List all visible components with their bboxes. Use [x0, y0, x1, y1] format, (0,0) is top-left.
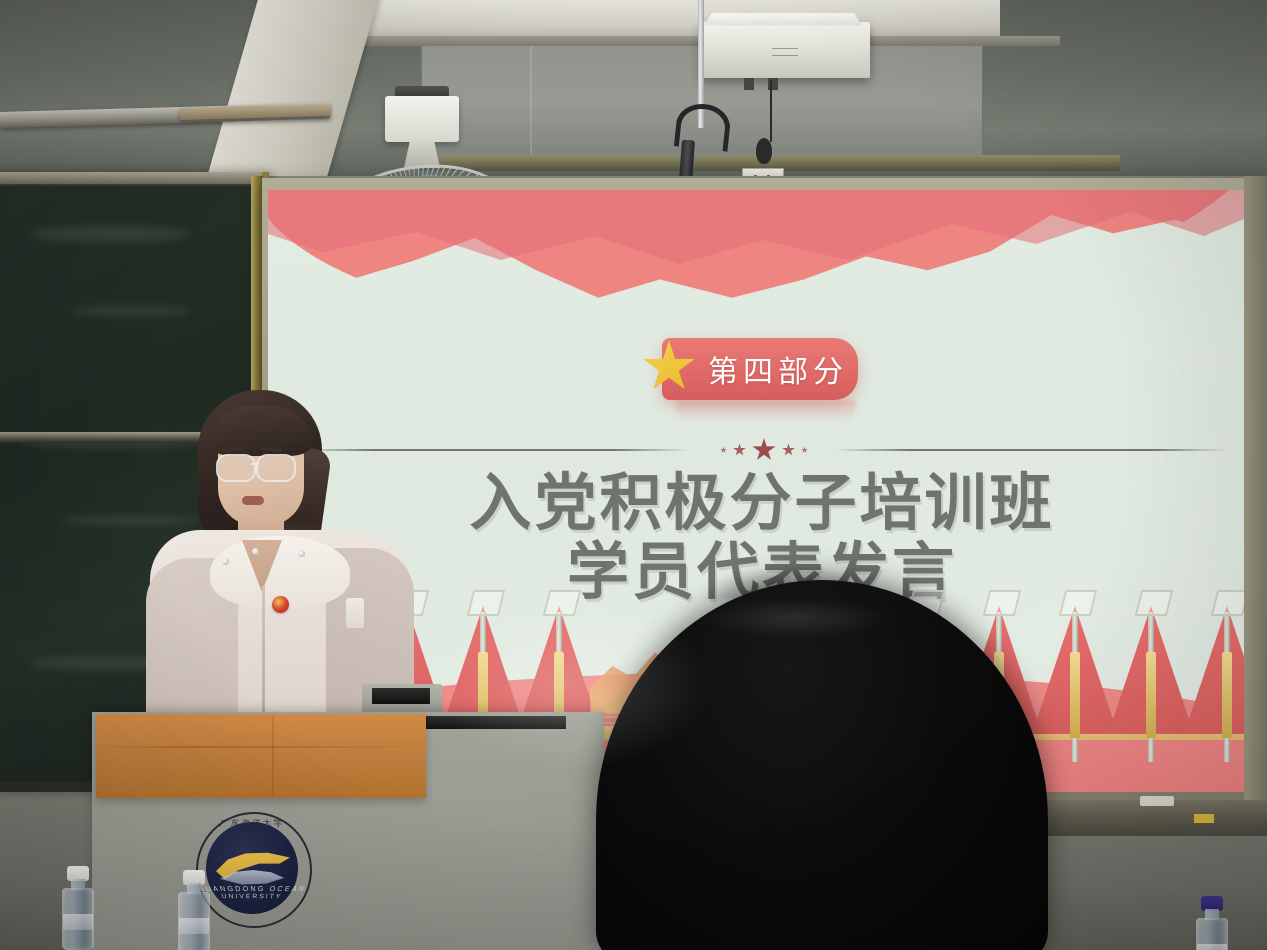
podium-device-screen [372, 688, 430, 704]
bottle-label [63, 914, 93, 930]
lectern-wood-panel [96, 714, 426, 798]
fan-mount [385, 96, 459, 142]
star-icon [782, 444, 795, 457]
water-bottle [62, 888, 94, 950]
speaker-jacket-zipper [262, 586, 265, 716]
logo-chinese-name: 广东海洋大学 [206, 817, 297, 836]
lectern-wood-seam [272, 716, 274, 796]
speaker-mouth [242, 496, 264, 505]
hood-snap-button [222, 558, 229, 565]
projector-cable [770, 80, 772, 142]
chalkboard-top-edge [0, 172, 262, 184]
water-bottle [1196, 918, 1228, 950]
whiteboard-tray-marker [1194, 814, 1214, 823]
divider-stars [694, 438, 834, 462]
ceiling-beam-shadow [300, 36, 1060, 46]
badge-label: 第四部分 [672, 347, 848, 391]
slide-flag [1032, 606, 1118, 734]
bottle-label [1197, 944, 1227, 950]
photo-scene: 第四部分 入党积极分子培训班 学员代表发言 [0, 0, 1267, 950]
star-icon [801, 447, 808, 454]
glasses-bridge [251, 463, 259, 465]
audience-hair-highlight [700, 598, 890, 638]
ceiling-speaker [756, 138, 772, 164]
slide-divider [268, 438, 1256, 462]
university-logo: 广东海洋大学 GUANGDONG OCEAN UNIVERSITY [196, 812, 308, 924]
lectern-wood-grain [96, 746, 426, 748]
slide-title-line-1: 入党积极分子培训班 [268, 468, 1256, 537]
slide-section-badge: 第四部分 [642, 338, 872, 414]
projector-logo-mark [772, 48, 798, 56]
bottle-body [62, 888, 94, 950]
water-bottle [178, 892, 210, 950]
bottle-neck [1205, 909, 1219, 920]
star-icon [733, 444, 746, 457]
slide-flag [1108, 606, 1194, 734]
party-emblem-badge [272, 596, 289, 613]
sleeve-tag [346, 598, 364, 628]
glasses-icon [216, 454, 256, 482]
bottle-neck [71, 879, 85, 890]
projector-mount-foot [744, 78, 754, 90]
lectern-black-edge [424, 716, 566, 729]
badge-pill: 第四部分 [662, 338, 858, 400]
glasses-icon [256, 454, 296, 482]
whiteboard-tray-clip [1140, 796, 1174, 806]
bottle-label [179, 918, 209, 934]
bottle-neck [187, 883, 201, 894]
speaker-person [150, 390, 410, 720]
divider-line-right [834, 449, 1228, 451]
bottle-body [178, 892, 210, 950]
projector [700, 22, 870, 78]
badge-shadow [676, 400, 856, 422]
bottle-body [1196, 918, 1228, 950]
hood-snap-button [252, 548, 259, 555]
star-icon [752, 438, 776, 462]
whiteboard-right-frame [1244, 176, 1267, 816]
star-icon [720, 447, 727, 454]
hood-snap-button [298, 550, 305, 557]
